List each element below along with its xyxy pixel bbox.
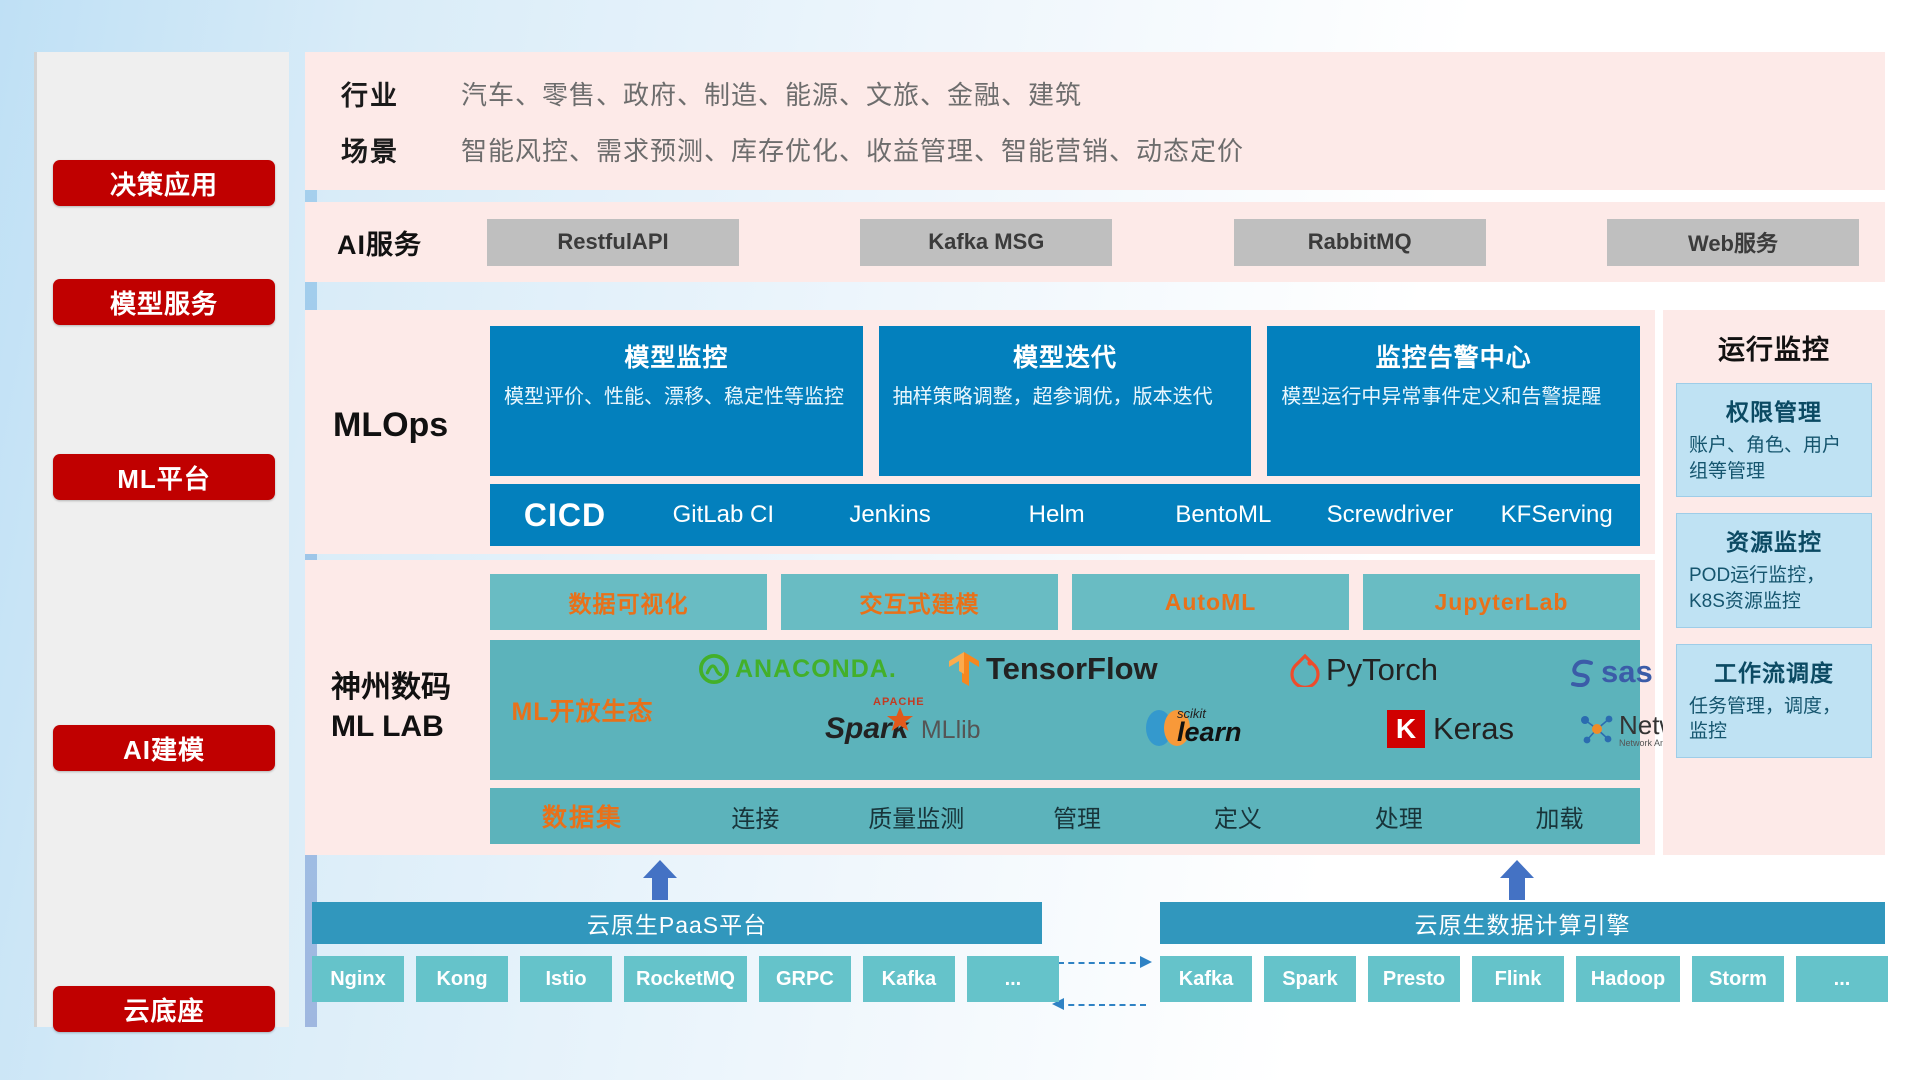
sas-text: sas [1601,654,1653,690]
ml-lab-label-line2: ML LAB [331,707,501,746]
rail-item-cloud-base[interactable]: 云底座 [53,986,275,1032]
monitor-card-desc: 任务管理，调度，监控 [1689,694,1859,745]
chip-hadoop[interactable]: Hadoop [1576,956,1680,1002]
spark-star-icon [885,706,915,734]
chip-kafka[interactable]: Kafka [863,956,955,1002]
sas-icon [1565,657,1599,687]
mlops-card-model-iteration[interactable]: 模型迭代 抽样策略调整，超参调优，版本迭代 [879,326,1252,476]
keras-text: Keras [1433,711,1514,747]
ml-lab-label: 神州数码 ML LAB [331,668,501,746]
industry-scenario-band: 行业 汽车、零售、政府、制造、能源、文旅、金融、建筑 场景 智能风控、需求预测、… [305,52,1885,190]
monitor-card-resource[interactable]: 资源监控 POD运行监控，K8S资源监控 [1676,513,1872,627]
ai-service-label: AI服务 [337,223,487,262]
data-engine-bar: 云原生数据计算引擎 [1160,902,1885,944]
card-title: 模型迭代 [893,338,1238,374]
dashed-link-left [1058,1004,1146,1006]
ml-lab-label-line1: 神州数码 [331,668,501,707]
mlops-card-alert-center[interactable]: 监控告警中心 模型运行中异常事件定义和告警提醒 [1267,326,1640,476]
tool-data-visualization[interactable]: 数据可视化 [490,574,767,630]
dataset-item-process[interactable]: 处理 [1318,799,1479,834]
dataset-item-define[interactable]: 定义 [1157,799,1318,834]
tool-interactive-modeling[interactable]: 交互式建模 [781,574,1058,630]
dataset-item-manage[interactable]: 管理 [997,799,1158,834]
anaconda-icon [699,654,729,684]
runtime-monitor-title: 运行监控 [1663,310,1885,367]
dataset-row: 数据集 连接 质量监测 管理 定义 处理 加载 [490,788,1640,844]
service-rabbitmq[interactable]: RabbitMQ [1234,219,1486,266]
scenario-row: 场景 智能风控、需求预测、库存优化、收益管理、智能营销、动态定价 [305,130,1244,169]
networkx-icon [1577,711,1615,747]
monitor-card-title: 工作流调度 [1689,654,1859,688]
cicd-item-gitlab-ci[interactable]: GitLab CI [640,500,807,530]
industry-label: 行业 [341,74,461,113]
chip-rocketmq[interactable]: RocketMQ [624,956,747,1002]
card-desc: 抽样策略调整，超参调优，版本迭代 [893,384,1238,411]
dataset-item-list: 连接 质量监测 管理 定义 处理 加载 [675,799,1640,834]
pytorch-logo: PyTorch [1289,652,1438,688]
card-title: 模型监控 [504,338,849,374]
anaconda-logo: ANACONDA. [699,654,897,684]
runtime-monitor-panel: 运行监控 权限管理 账户、角色、用户组等管理 资源监控 POD运行监控，K8S资… [1663,310,1885,855]
paas-platform-bar: 云原生PaaS平台 [312,902,1042,944]
ml-lab-band: 神州数码 ML LAB 数据可视化 交互式建模 AutoML JupyterLa… [305,560,1655,855]
monitor-card-permission[interactable]: 权限管理 账户、角色、用户组等管理 [1676,383,1872,497]
scikit-learn-logo: scikit learn [1143,708,1195,748]
monitor-card-desc: POD运行监控，K8S资源监控 [1689,563,1859,614]
rail-item-ai-modeling[interactable]: AI建模 [53,725,275,771]
chip-more-right[interactable]: ... [1796,956,1888,1002]
dataset-label: 数据集 [490,798,675,834]
chip-kong[interactable]: Kong [416,956,508,1002]
scenario-value: 智能风控、需求预测、库存优化、收益管理、智能营销、动态定价 [461,131,1244,168]
industry-row: 行业 汽车、零售、政府、制造、能源、文旅、金融、建筑 [305,74,1082,113]
chip-flink[interactable]: Flink [1472,956,1564,1002]
dataset-item-load[interactable]: 加载 [1479,799,1640,834]
mlops-card-model-monitor[interactable]: 模型监控 模型评价、性能、漂移、稳定性等监控 [490,326,863,476]
mlops-card-list: 模型监控 模型评价、性能、漂移、稳定性等监控 模型迭代 抽样策略调整，超参调优，… [490,326,1640,476]
arrow-up-data-engine [1500,860,1534,900]
rail-item-model-service[interactable]: 模型服务 [53,279,275,325]
card-desc: 模型评价、性能、漂移、稳定性等监控 [504,384,849,411]
monitor-card-title: 资源监控 [1689,523,1859,557]
keras-logo: K Keras [1387,710,1514,748]
ai-service-list: RestfulAPI Kafka MSG RabbitMQ Web服务 [487,219,1885,266]
ecosystem-logo-area: ANACONDA. TensorFlow PyTorch [675,640,1640,780]
tensorflow-logo: TensorFlow [947,650,1158,688]
ml-open-ecosystem: ML开放生态 ANACONDA. TensorFlow [490,640,1640,780]
ecosystem-label: ML开放生态 [490,692,675,728]
cicd-item-screwdriver[interactable]: Screwdriver [1307,500,1474,530]
tool-jupyterlab[interactable]: JupyterLab [1363,574,1640,630]
cicd-item-kfserving[interactable]: KFServing [1473,500,1640,530]
ai-service-band: AI服务 RestfulAPI Kafka MSG RabbitMQ Web服务 [305,202,1885,282]
monitor-card-title: 权限管理 [1689,393,1859,427]
card-title: 监控告警中心 [1281,338,1626,374]
dashed-link-right [1058,962,1146,964]
chip-storm[interactable]: Storm [1692,956,1784,1002]
chip-grpc[interactable]: GRPC [759,956,851,1002]
cicd-item-bentoml[interactable]: BentoML [1140,500,1307,530]
pytorch-text: PyTorch [1326,652,1438,688]
learn-text: learn [1177,717,1242,748]
mlops-band: MLOps 模型监控 模型评价、性能、漂移、稳定性等监控 模型迭代 抽样策略调整… [305,310,1655,554]
mllib-text: MLlib [921,716,981,744]
pytorch-icon [1289,653,1321,687]
spark-mllib-logo: APACHE Spark MLlib [825,712,981,746]
sas-logo: sas [1565,654,1653,690]
tool-automl[interactable]: AutoML [1072,574,1349,630]
tensorflow-text: TensorFlow [986,651,1158,687]
chip-spark[interactable]: Spark [1264,956,1356,1002]
service-restfulapi[interactable]: RestfulAPI [487,219,739,266]
cicd-item-list: GitLab CI Jenkins Helm BentoML Screwdriv… [640,500,1640,530]
paas-chip-list: Nginx Kong Istio RocketMQ GRPC Kafka ... [312,956,1059,1002]
scenario-label: 场景 [341,130,461,169]
cicd-label: CICD [490,497,640,534]
dashed-arrow-right-icon [1140,954,1156,970]
service-kafka-msg[interactable]: Kafka MSG [860,219,1112,266]
chip-more-left[interactable]: ... [967,956,1059,1002]
chip-nginx[interactable]: Nginx [312,956,404,1002]
tensorflow-icon [947,650,981,688]
monitor-card-workflow[interactable]: 工作流调度 任务管理，调度，监控 [1676,644,1872,758]
chip-istio[interactable]: Istio [520,956,612,1002]
ml-tools-row: 数据可视化 交互式建模 AutoML JupyterLab [490,574,1640,630]
cicd-row: CICD GitLab CI Jenkins Helm BentoML Scre… [490,484,1640,546]
cicd-item-helm[interactable]: Helm [973,500,1140,530]
data-engine-chip-list: Kafka Spark Presto Flink Hadoop Storm ..… [1160,956,1888,1002]
service-web[interactable]: Web服务 [1607,219,1859,266]
dataset-item-quality-monitor[interactable]: 质量监测 [836,799,997,834]
architecture-diagram: 决策应用 模型服务 ML平台 AI建模 云底座 行业 汽车、零售、政府、制造、能… [0,0,1920,1080]
arrow-up-paas [643,860,677,900]
cicd-item-jenkins[interactable]: Jenkins [807,500,974,530]
chip-kafka-right[interactable]: Kafka [1160,956,1252,1002]
monitor-card-desc: 账户、角色、用户组等管理 [1689,433,1859,484]
keras-mark: K [1396,713,1416,745]
rail-item-decision-app[interactable]: 决策应用 [53,160,275,206]
dataset-item-connect[interactable]: 连接 [675,799,836,834]
anaconda-text: ANACONDA. [735,655,897,684]
industry-value: 汽车、零售、政府、制造、能源、文旅、金融、建筑 [461,75,1082,112]
chip-presto[interactable]: Presto [1368,956,1460,1002]
layer-rail: 决策应用 模型服务 ML平台 AI建模 云底座 [34,52,289,1027]
mlops-label: MLOps [333,406,493,445]
card-desc: 模型运行中异常事件定义和告警提醒 [1281,384,1626,411]
rail-item-ml-platform[interactable]: ML平台 [53,454,275,500]
